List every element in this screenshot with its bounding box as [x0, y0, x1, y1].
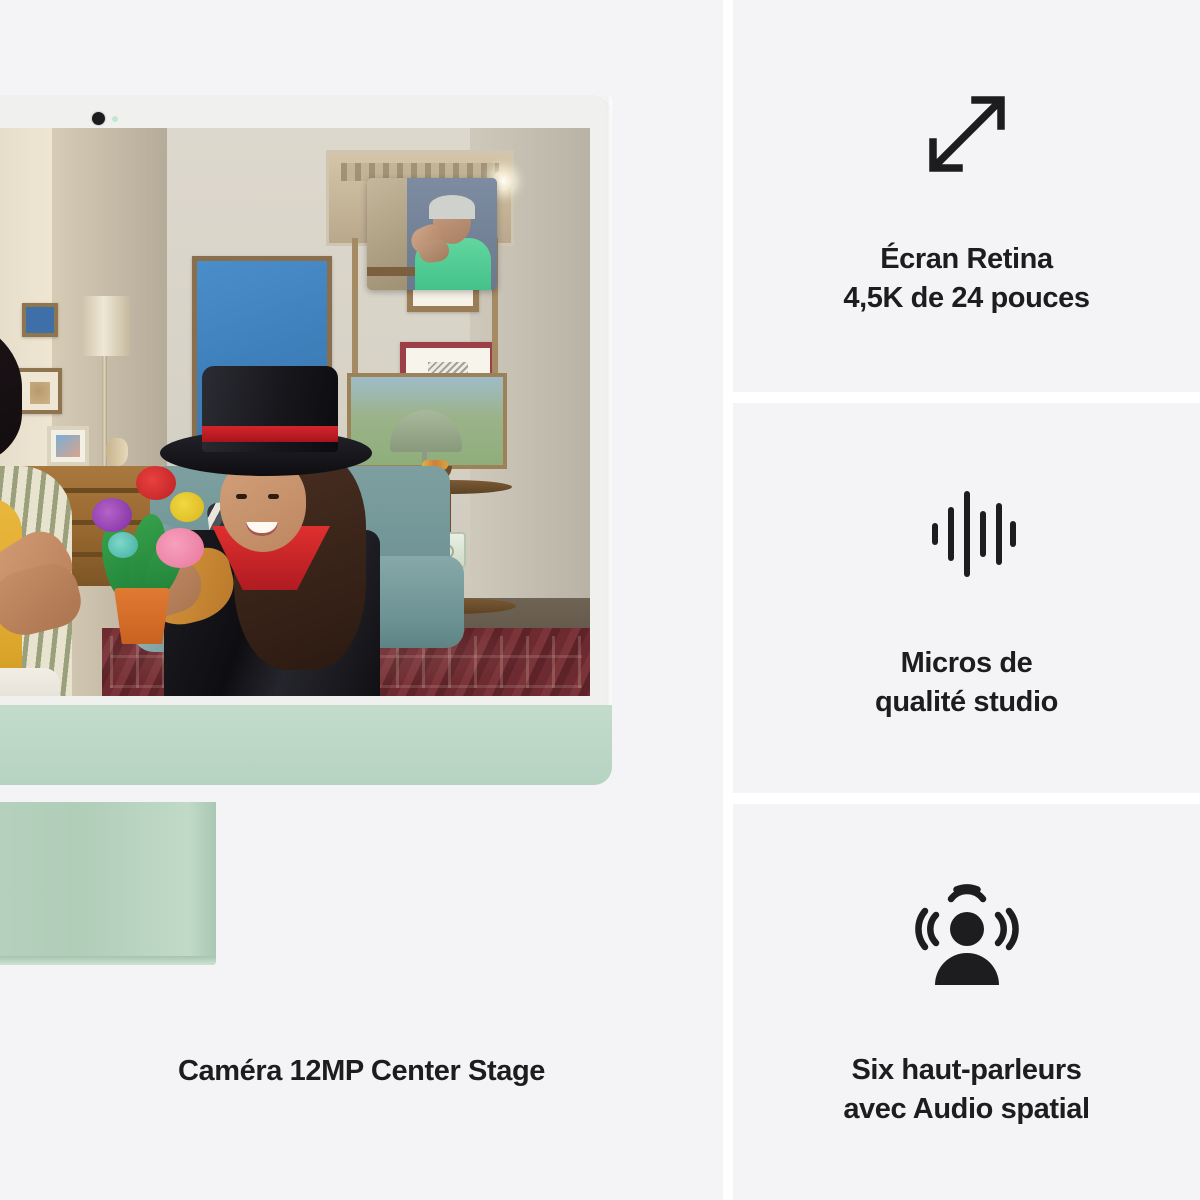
pip-participant [413, 200, 491, 290]
adult-pants [0, 668, 60, 696]
flower-bloom-purple [92, 498, 132, 532]
flower-bloom-teal [108, 532, 138, 558]
expand-diagonal-arrows-icon [913, 74, 1021, 194]
feature-card-microphones: Micros de qualité studio [733, 403, 1200, 793]
video-call-scene [0, 128, 590, 696]
feature-label-speakers: Six haut-parleurs avec Audio spatial [843, 1047, 1089, 1128]
feature-label-line1: Six haut-parleurs [843, 1051, 1089, 1090]
feature-label-line1: Micros de [875, 644, 1058, 683]
imac-chin [0, 705, 612, 785]
feature-label-line2: avec Audio spatial [843, 1090, 1089, 1129]
adult-hair [0, 316, 22, 466]
webcam-dot-icon [92, 112, 105, 125]
top-hat-red-band [202, 426, 338, 442]
feature-card-display: Écran Retina 4,5K de 24 pouces [733, 0, 1200, 392]
spatial-audio-person-icon [911, 875, 1023, 995]
imac-screen [0, 128, 590, 696]
participant-video-tile[interactable] [367, 178, 497, 290]
pip-participant-hair [429, 195, 475, 219]
imac-bezel [0, 95, 612, 710]
flower-bloom-red [136, 466, 176, 500]
imac-stand-neck [0, 802, 216, 965]
camera-indicator-led-icon [112, 116, 118, 122]
feature-label-display: Écran Retina 4,5K de 24 pouces [843, 240, 1089, 317]
audio-waveform-icon [913, 474, 1021, 594]
imac-hero-panel: Caméra 12MP Center Stage [0, 0, 723, 1200]
hero-caption: Caméra 12MP Center Stage [0, 1055, 723, 1088]
child-eye-right [268, 494, 279, 499]
feature-label-line1: Écran Retina [843, 240, 1089, 279]
flower-bloom-yellow [170, 492, 204, 522]
feature-label-line2: 4,5K de 24 pouces [843, 279, 1089, 318]
child-eye-left [236, 494, 247, 499]
feature-label-line2: qualité studio [875, 683, 1058, 722]
child-smile [246, 522, 278, 536]
imac-device [0, 95, 612, 785]
feature-label-microphones: Micros de qualité studio [875, 644, 1058, 721]
bouquet-in-pot [78, 458, 218, 668]
product-feature-grid: Caméra 12MP Center Stage Écran Retina 4,… [0, 0, 1200, 1200]
feature-card-speakers: Six haut-parleurs avec Audio spatial [733, 804, 1200, 1200]
terracotta-pot [114, 588, 170, 644]
flower-bloom-pink [156, 528, 204, 568]
